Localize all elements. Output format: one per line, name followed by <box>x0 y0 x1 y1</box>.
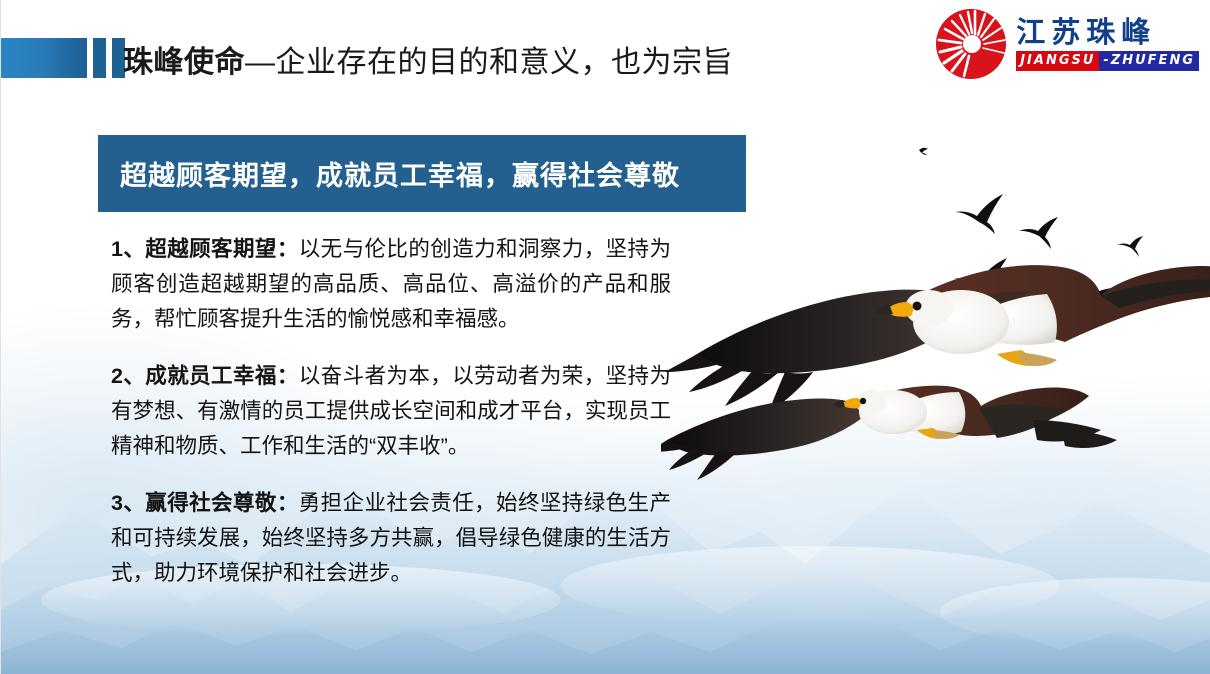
mission-paragraph-list: 1、超越顾客期望：以无与伦比的创造力和洞察力，坚持为顾客创造超越期望的高品质、高… <box>111 232 671 591</box>
logo-english-left: JIANGSU <box>1016 51 1099 71</box>
logo-chinese-name: 江苏珠峰 <box>1016 17 1199 47</box>
company-logo: 江苏珠峰 JIANGSU-ZHUFENG <box>935 8 1199 80</box>
mission-paragraph-1: 1、超越顾客期望：以无与伦比的创造力和洞察力，坚持为顾客创造超越期望的高品质、高… <box>111 232 671 337</box>
logo-english-right: -ZHUFENG <box>1099 51 1199 71</box>
page-title-strong: 珠峰使命 <box>123 37 245 81</box>
mission-paragraph-2-lead: 2、成就员工幸福： <box>111 364 299 388</box>
slogan-text: 超越顾客期望，成就员工幸福，赢得社会尊敬 <box>98 154 680 193</box>
slide-header: 珠峰使命—企业存在的目的和意义，也为宗旨 <box>1 0 1210 100</box>
eagle-large <box>665 265 1210 412</box>
mission-paragraph-2: 2、成就员工幸福：以奋斗者为本，以劳动者为荣，坚持为有梦想、有激情的员工提供成长… <box>111 359 671 464</box>
logo-wordmark: 江苏珠峰 JIANGSU-ZHUFENG <box>1016 17 1199 70</box>
title-accent-bars <box>1 38 125 78</box>
page-title: 珠峰使命—企业存在的目的和意义，也为宗旨 <box>123 38 733 80</box>
accent-bar-small-1 <box>93 38 106 78</box>
page-title-rest: —企业存在的目的和意义，也为宗旨 <box>245 37 733 81</box>
slide-canvas: 珠峰使命—企业存在的目的和意义，也为宗旨 <box>0 0 1210 674</box>
mission-paragraph-3-lead: 3、赢得社会尊敬： <box>111 491 299 515</box>
sunburst-icon <box>935 8 1007 80</box>
eagle-small <box>661 386 1117 480</box>
mission-paragraph-3: 3、赢得社会尊敬：勇担企业社会责任，始终坚持绿色生产和可持续发展，始终坚持多方共… <box>111 486 671 591</box>
logo-english-banner: JIANGSU-ZHUFENG <box>1016 51 1199 71</box>
mission-paragraph-1-lead: 1、超越顾客期望： <box>111 237 299 261</box>
slogan-banner: 超越顾客期望，成就员工幸福，赢得社会尊敬 <box>98 135 746 212</box>
accent-bar-wide <box>1 38 87 78</box>
bird-flock-silhouettes <box>919 148 1143 320</box>
